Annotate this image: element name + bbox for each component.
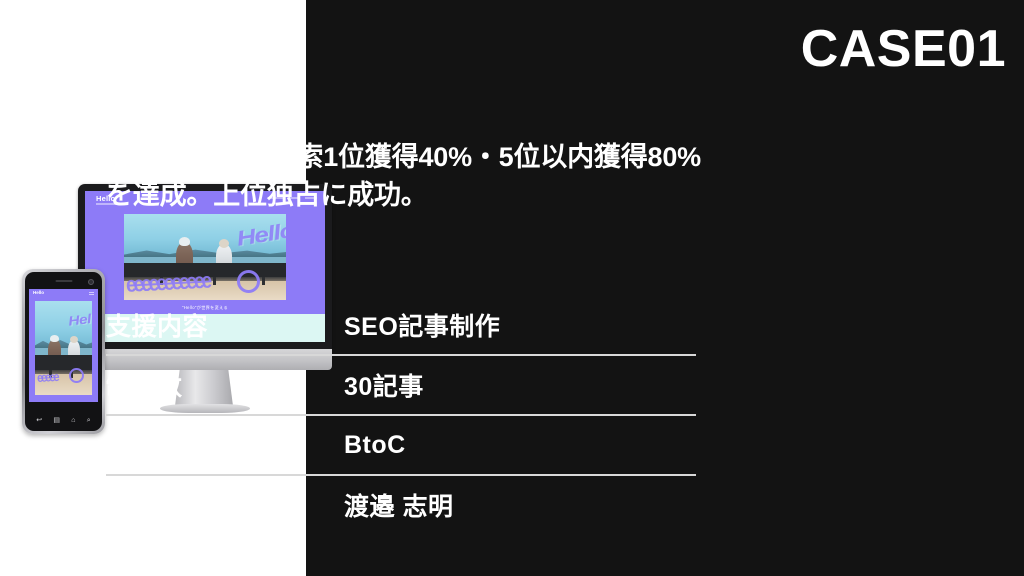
table-row: 支援内容 SEO記事制作 [106, 296, 696, 356]
page-title: CASE01 [801, 23, 1006, 75]
spec-value: SEO記事制作 [344, 307, 500, 343]
spec-table: 支援内容 SEO記事制作 制作数 30記事 事業領域 BtoC 担当者 渡邉 志… [106, 296, 696, 534]
table-row: 制作数 30記事 [106, 356, 696, 416]
slide-case-study: Hello [0, 0, 1024, 576]
spec-label: 制作数 [106, 367, 344, 403]
spec-value: BtoC [344, 431, 406, 460]
headline-text: 30記事制作し検索1位獲得40%・5位以内獲得80%を達成。上位独占に成功。 [106, 138, 716, 215]
spec-label: 担当者 [106, 487, 344, 523]
table-row: 担当者 渡邉 志明 [106, 476, 696, 534]
spec-label: 支援内容 [106, 307, 344, 343]
table-row: 事業領域 BtoC [106, 416, 696, 476]
spec-value: 渡邉 志明 [344, 487, 453, 523]
spec-value: 30記事 [344, 367, 424, 403]
spec-label: 事業領域 [106, 427, 344, 463]
